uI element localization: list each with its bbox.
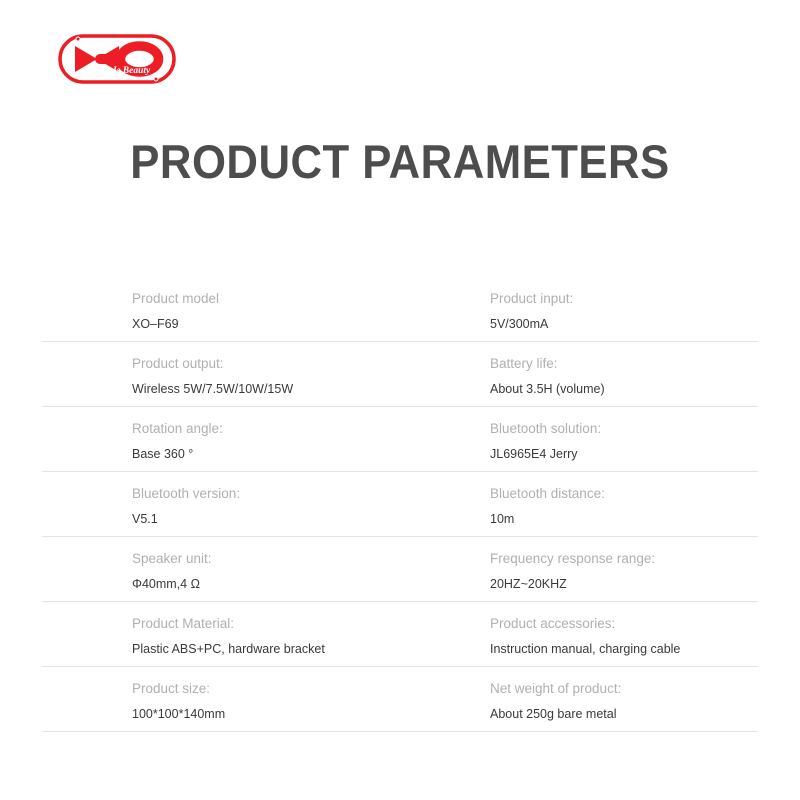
spec-label: Product model [132,290,490,307]
table-row: Product size: 100*100*140mm Net weight o… [42,667,758,732]
spec-cell-right: Frequency response range: 20HZ~20KHZ [490,537,758,601]
spec-label: Product Material: [132,615,490,632]
spec-label: Frequency response range: [490,550,758,567]
spec-value: 100*100*140mm [132,706,490,722]
logo-tagline-text: Simple Is Beauty [84,66,151,76]
spec-label: Net weight of product: [490,680,758,697]
spec-cell-left: Product output: Wireless 5W/7.5W/10W/15W [42,342,490,406]
spec-cell-right: Net weight of product: About 250g bare m… [490,667,758,731]
spec-value: Base 360 ° [132,446,490,462]
spec-label: Bluetooth version: [132,485,490,502]
spec-label: Rotation angle: [132,420,490,437]
page-title: PRODUCT PARAMETERS [28,134,772,190]
spec-value: About 3.5H (volume) [490,381,758,397]
spec-label: Battery life: [490,355,758,372]
spec-value: JL6965E4 Jerry [490,446,758,462]
spec-cell-right: Bluetooth distance: 10m [490,472,758,536]
spec-cell-left: Speaker unit: Φ40mm,4 Ω [42,537,490,601]
spec-value: Φ40mm,4 Ω [132,576,490,592]
spec-value: V5.1 [132,511,490,527]
table-row: Product Material: Plastic ABS+PC, hardwa… [42,602,758,667]
xo-logo-icon: Simple Is Beauty [58,31,176,87]
table-row: Rotation angle: Base 360 ° Bluetooth sol… [42,407,758,472]
spec-value: 10m [490,511,758,527]
table-row: Product model XO–F69 Product input: 5V/3… [42,277,758,342]
spec-cell-left: Product size: 100*100*140mm [42,667,490,731]
spec-value: Plastic ABS+PC, hardware bracket [132,641,490,657]
spec-label: Product accessories: [490,615,758,632]
table-row: Bluetooth version: V5.1 Bluetooth distan… [42,472,758,537]
spec-label: Product size: [132,680,490,697]
spec-value: About 250g bare metal [490,706,758,722]
spec-label: Speaker unit: [132,550,490,567]
spec-value: 5V/300mA [490,316,758,332]
table-row: Product output: Wireless 5W/7.5W/10W/15W… [42,342,758,407]
spec-value: Instruction manual, charging cable [490,641,758,657]
table-row: Speaker unit: Φ40mm,4 Ω Frequency respon… [42,537,758,602]
spec-value: 20HZ~20KHZ [490,576,758,592]
spec-label: Product output: [132,355,490,372]
spec-cell-left: Rotation angle: Base 360 ° [42,407,490,471]
spec-cell-left: Product Material: Plastic ABS+PC, hardwa… [42,602,490,666]
spec-cell-right: Battery life: About 3.5H (volume) [490,342,758,406]
spec-label: Bluetooth solution: [490,420,758,437]
spec-label: Product input: [490,290,758,307]
brand-logo: Simple Is Beauty [58,31,176,87]
spec-value: XO–F69 [132,316,490,332]
spec-cell-right: Bluetooth solution: JL6965E4 Jerry [490,407,758,471]
spec-cell-right: Product input: 5V/300mA [490,277,758,341]
spec-value: Wireless 5W/7.5W/10W/15W [132,381,490,397]
spec-label: Bluetooth distance: [490,485,758,502]
spec-cell-right: Product accessories: Instruction manual,… [490,602,758,666]
spec-cell-left: Product model XO–F69 [42,277,490,341]
spec-cell-left: Bluetooth version: V5.1 [42,472,490,536]
product-parameters-table: Product model XO–F69 Product input: 5V/3… [42,277,758,732]
